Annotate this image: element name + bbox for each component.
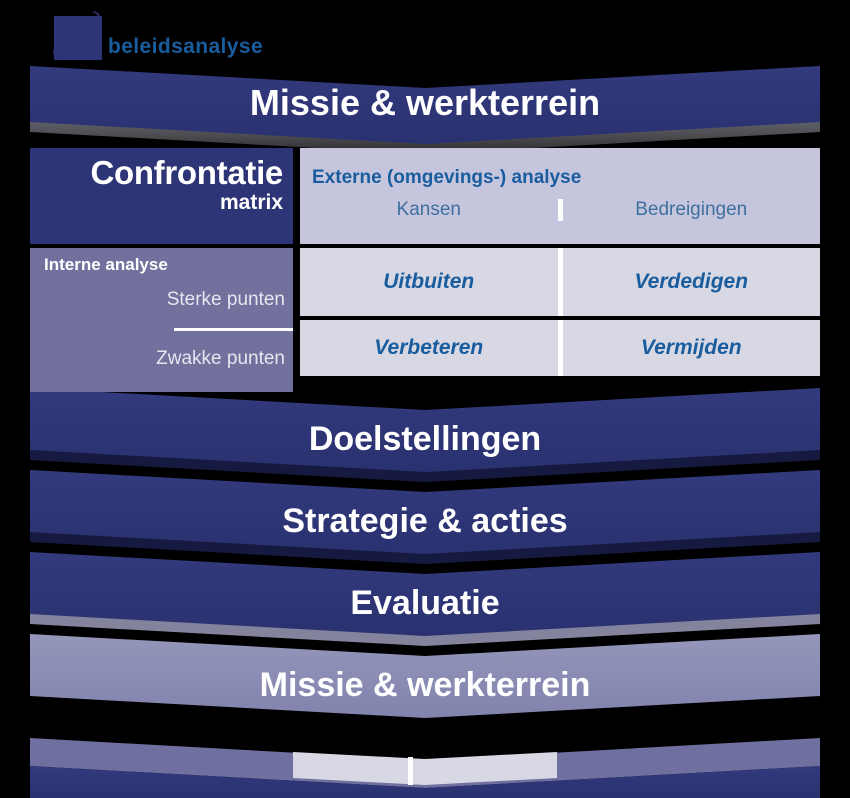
external-heading: Externe (omgevings-) analyse [300,168,820,189]
matrix-cell-vermijden: Vermijden [563,320,821,376]
external-col-opportunities: Kansen [300,199,558,221]
brand-header: beleidsanalyse [0,0,850,66]
repeat-diagram-fragment [30,738,820,798]
matrix-internal-axis: Interne analyse Sterke punten Zwakke pun… [30,248,293,392]
band-strategie-label: Strategie & acties [282,502,567,541]
internal-row-weaknesses: Zwakke punten [44,348,293,370]
internal-row-strengths: Sterke punten [44,289,293,311]
matrix-external-axis: Externe (omgevings-) analyse Kansen Bedr… [300,148,820,244]
internal-row-divider [174,328,293,331]
matrix-title-line2: matrix [30,191,283,214]
band-missie-top-label: Missie & werkterrein [250,82,600,124]
matrix-cell-uitbuiten: Uitbuiten [300,248,558,316]
band-missie-bottom-label: Missie & werkterrein [260,666,591,705]
band-missie-bottom: Missie & werkterrein [30,634,820,732]
brand-name: beleidsanalyse [108,36,263,57]
band-missie-top: Missie & werkterrein [30,66,820,156]
external-col-threats: Bedreigingen [563,199,821,221]
logo-sketch-icon [50,8,116,66]
confrontation-matrix: Confrontatie matrix Interne analyse Ster… [30,148,820,392]
matrix-title-cell: Confrontatie matrix [30,148,293,244]
matrix-row-weaknesses: Verbeteren Vermijden [300,320,820,376]
band-doelstellingen-label: Doelstellingen [309,420,541,459]
matrix-row-strengths: Uitbuiten Verdedigen [300,248,820,316]
matrix-title-line1: Confrontatie [30,156,283,190]
matrix-cell-verbeteren: Verbeteren [300,320,558,376]
band-evaluatie-label: Evaluatie [350,584,499,623]
matrix-cell-verdedigen: Verdedigen [563,248,821,316]
internal-heading: Interne analyse [44,254,293,275]
